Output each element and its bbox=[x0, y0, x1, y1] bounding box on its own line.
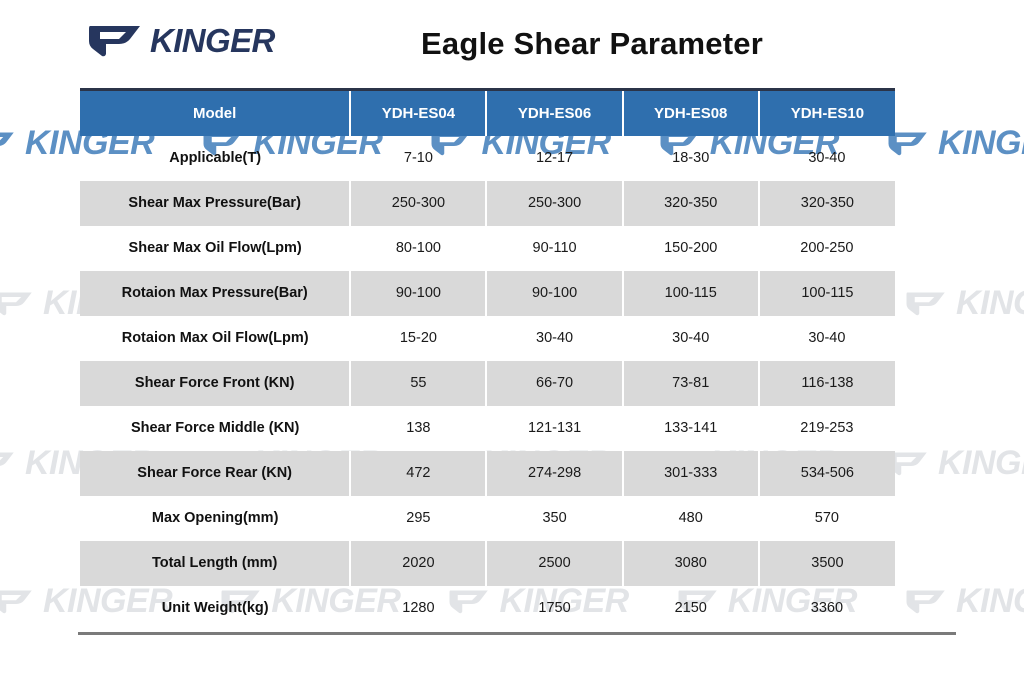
cell-value: 570 bbox=[759, 496, 895, 541]
row-label: Shear Max Pressure(Bar) bbox=[80, 181, 350, 226]
cell-value: 90-110 bbox=[486, 226, 622, 271]
row-label: Shear Force Front (KN) bbox=[80, 361, 350, 406]
cell-value: 7-10 bbox=[350, 136, 486, 181]
cell-value: 100-115 bbox=[623, 271, 759, 316]
cell-value: 30-40 bbox=[486, 316, 622, 361]
table-header: ModelYDH-ES04YDH-ES06YDH-ES08YDH-ES10 bbox=[80, 90, 895, 136]
kinger-swoosh-icon bbox=[0, 288, 36, 318]
row-label: Rotaion Max Oil Flow(Lpm) bbox=[80, 316, 350, 361]
row-label: Shear Force Rear (KN) bbox=[80, 451, 350, 496]
column-header-model-ydh-es04: YDH-ES04 bbox=[350, 90, 486, 136]
cell-value: 55 bbox=[350, 361, 486, 406]
kinger-swoosh-icon bbox=[0, 448, 18, 478]
column-header-model-ydh-es08: YDH-ES08 bbox=[623, 90, 759, 136]
table-row: Max Opening(mm)295350480570 bbox=[80, 496, 895, 541]
cell-value: 2500 bbox=[486, 541, 622, 586]
cell-value: 2150 bbox=[623, 586, 759, 631]
row-label: Shear Force Middle (KN) bbox=[80, 406, 350, 451]
cell-value: 100-115 bbox=[759, 271, 895, 316]
spec-sheet-page: KINGERKINGERKINGERKINGERKINGERKINGERKING… bbox=[0, 0, 1024, 678]
cell-value: 150-200 bbox=[623, 226, 759, 271]
table-row: Shear Max Oil Flow(Lpm)80-10090-110150-2… bbox=[80, 226, 895, 271]
cell-value: 3080 bbox=[623, 541, 759, 586]
row-label: Total Length (mm) bbox=[80, 541, 350, 586]
cell-value: 90-100 bbox=[350, 271, 486, 316]
cell-value: 250-300 bbox=[350, 181, 486, 226]
table-row: Applicable(T)7-1012-1718-3030-40 bbox=[80, 136, 895, 181]
watermark-text: KINGER bbox=[938, 124, 1024, 163]
watermark-kinger: KINGER bbox=[885, 124, 1024, 163]
table-row: Shear Force Middle (KN)138121-131133-141… bbox=[80, 406, 895, 451]
watermark-kinger: KINGER bbox=[885, 444, 1024, 483]
kinger-swoosh-icon bbox=[903, 288, 949, 318]
cell-value: 73-81 bbox=[623, 361, 759, 406]
cell-value: 66-70 bbox=[486, 361, 622, 406]
table-body: Applicable(T)7-1012-1718-3030-40Shear Ma… bbox=[80, 136, 895, 631]
row-label: Unit Weight(kg) bbox=[80, 586, 350, 631]
table-row: Shear Force Rear (KN)472274-298301-33353… bbox=[80, 451, 895, 496]
page-header: KINGER Eagle Shear Parameter bbox=[0, 0, 1024, 88]
cell-value: 301-333 bbox=[623, 451, 759, 496]
cell-value: 320-350 bbox=[759, 181, 895, 226]
kinger-swoosh-icon bbox=[0, 586, 36, 616]
row-label: Max Opening(mm) bbox=[80, 496, 350, 541]
kinger-swoosh-icon bbox=[903, 586, 949, 616]
table-row: Rotaion Max Oil Flow(Lpm)15-2030-4030-40… bbox=[80, 316, 895, 361]
table-row: Shear Force Front (KN)5566-7073-81116-13… bbox=[80, 361, 895, 406]
cell-value: 219-253 bbox=[759, 406, 895, 451]
spec-table-container: ModelYDH-ES04YDH-ES06YDH-ES08YDH-ES10 Ap… bbox=[80, 88, 895, 631]
cell-value: 2020 bbox=[350, 541, 486, 586]
column-header-model-ydh-es06: YDH-ES06 bbox=[486, 90, 622, 136]
table-header-row: ModelYDH-ES04YDH-ES06YDH-ES08YDH-ES10 bbox=[80, 90, 895, 136]
specification-table: ModelYDH-ES04YDH-ES06YDH-ES08YDH-ES10 Ap… bbox=[80, 88, 895, 631]
cell-value: 480 bbox=[623, 496, 759, 541]
cell-value: 133-141 bbox=[623, 406, 759, 451]
cell-value: 80-100 bbox=[350, 226, 486, 271]
page-title: Eagle Shear Parameter bbox=[0, 26, 1024, 62]
cell-value: 116-138 bbox=[759, 361, 895, 406]
table-row: Unit Weight(kg)1280175021503360 bbox=[80, 586, 895, 631]
table-bottom-rule bbox=[78, 632, 956, 635]
cell-value: 350 bbox=[486, 496, 622, 541]
kinger-swoosh-icon bbox=[0, 128, 18, 158]
watermark-text: KINGER bbox=[938, 444, 1024, 483]
table-row: Shear Max Pressure(Bar)250-300250-300320… bbox=[80, 181, 895, 226]
row-label: Applicable(T) bbox=[80, 136, 350, 181]
cell-value: 1280 bbox=[350, 586, 486, 631]
table-row: Total Length (mm)2020250030803500 bbox=[80, 541, 895, 586]
cell-value: 121-131 bbox=[486, 406, 622, 451]
cell-value: 90-100 bbox=[486, 271, 622, 316]
watermark-kinger: KINGER bbox=[903, 284, 1024, 323]
row-label: Rotaion Max Pressure(Bar) bbox=[80, 271, 350, 316]
cell-value: 138 bbox=[350, 406, 486, 451]
cell-value: 3500 bbox=[759, 541, 895, 586]
cell-value: 295 bbox=[350, 496, 486, 541]
column-header-model-ydh-es10: YDH-ES10 bbox=[759, 90, 895, 136]
cell-value: 320-350 bbox=[623, 181, 759, 226]
cell-value: 274-298 bbox=[486, 451, 622, 496]
cell-value: 15-20 bbox=[350, 316, 486, 361]
cell-value: 3360 bbox=[759, 586, 895, 631]
table-row: Rotaion Max Pressure(Bar)90-10090-100100… bbox=[80, 271, 895, 316]
cell-value: 30-40 bbox=[623, 316, 759, 361]
cell-value: 30-40 bbox=[759, 316, 895, 361]
cell-value: 472 bbox=[350, 451, 486, 496]
watermark-text: KINGER bbox=[956, 284, 1024, 323]
cell-value: 12-17 bbox=[486, 136, 622, 181]
cell-value: 18-30 bbox=[623, 136, 759, 181]
row-label: Shear Max Oil Flow(Lpm) bbox=[80, 226, 350, 271]
watermark-kinger: KINGER bbox=[903, 582, 1024, 621]
watermark-text: KINGER bbox=[956, 582, 1024, 621]
cell-value: 534-506 bbox=[759, 451, 895, 496]
cell-value: 1750 bbox=[486, 586, 622, 631]
cell-value: 30-40 bbox=[759, 136, 895, 181]
column-header-model: Model bbox=[80, 90, 350, 136]
cell-value: 250-300 bbox=[486, 181, 622, 226]
cell-value: 200-250 bbox=[759, 226, 895, 271]
